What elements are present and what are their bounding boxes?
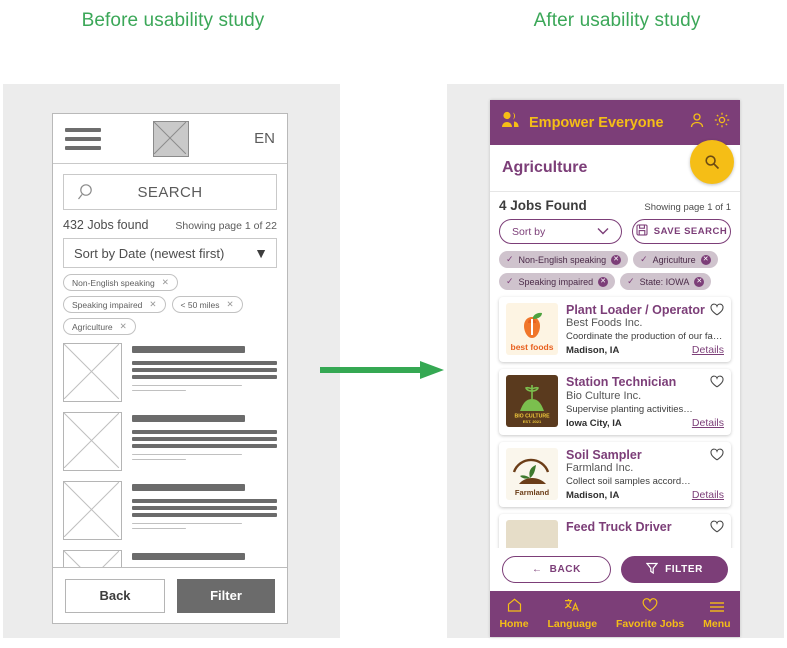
check-icon: ✓ — [506, 254, 514, 265]
svg-text:EST. 2021: EST. 2021 — [523, 419, 542, 424]
app-header: Empower Everyone — [490, 100, 740, 145]
placeholder-text-lines — [132, 481, 277, 540]
job-location: Iowa City, IA — [566, 418, 622, 429]
check-icon: ✓ — [640, 254, 648, 265]
nav-label: Language — [548, 618, 598, 630]
nav-item-home[interactable]: Home — [499, 598, 528, 630]
sort-label: Sort by — [512, 226, 545, 238]
check-icon: ✓ — [627, 276, 635, 287]
transition-arrow-icon — [320, 358, 445, 382]
results-count: 4 Jobs Found — [499, 198, 587, 213]
job-info: Soil Sampler Farmland Inc. Collect soil … — [566, 448, 724, 501]
nav-item-language[interactable]: Language — [548, 598, 598, 630]
job-company: Bio Culture Inc. — [566, 390, 724, 404]
filter-button[interactable]: Filter — [177, 579, 275, 613]
sort-label: Sort by Date (newest first) — [74, 246, 224, 261]
search-button[interactable] — [690, 140, 734, 184]
page-status: Showing page 1 of 1 — [644, 202, 731, 213]
check-icon: ✓ — [506, 276, 514, 287]
chevron-down-icon — [597, 226, 609, 238]
save-search-button[interactable]: SAVE SEARCH — [632, 219, 731, 244]
job-location: Madison, IA — [566, 345, 619, 356]
results-summary-row: 4 Jobs Found Showing page 1 of 1 — [499, 198, 731, 213]
heart-outline-icon[interactable] — [710, 448, 724, 466]
sort-dropdown[interactable]: Sort by — [499, 219, 622, 244]
heart-outline-icon — [642, 598, 658, 617]
filter-chip[interactable]: < 50 miles✕ — [172, 296, 243, 313]
nav-label: Favorite Jobs — [616, 618, 684, 630]
filter-chip-label: State: IOWA — [640, 277, 690, 287]
farmland-logo: Farmland — [506, 448, 558, 500]
home-icon — [507, 598, 522, 617]
app-bottom-actions: ← BACK FILTER — [490, 548, 740, 591]
placeholder-image-icon — [63, 481, 122, 540]
results-count: 432 Jobs found — [63, 218, 149, 232]
filter-chip-label: Speaking impaired — [519, 277, 594, 287]
results-controls: Sort by SAVE SEARCH — [499, 219, 731, 244]
job-company: Farmland Inc. — [566, 462, 724, 476]
filter-button[interactable]: FILTER — [621, 556, 728, 583]
app-phone-mockup: Empower Everyone Agriculture 4 Jobs Foun… — [490, 100, 740, 637]
close-icon[interactable]: ✕ — [120, 321, 127, 332]
app-brand-title: Empower Everyone — [529, 115, 680, 131]
job-title: Feed Truck Driver — [566, 520, 724, 534]
people-group-icon — [500, 111, 522, 134]
svg-text:Farmland: Farmland — [515, 488, 550, 497]
close-icon[interactable]: ✕ — [598, 277, 608, 287]
close-icon[interactable]: ✕ — [162, 277, 169, 288]
heart-outline-icon[interactable] — [710, 520, 724, 538]
app-results-area: 4 Jobs Found Showing page 1 of 1 Sort by… — [490, 192, 740, 578]
search-icon — [78, 183, 98, 208]
filter-chip[interactable]: Non-English speaking✕ — [63, 274, 178, 291]
heart-outline-icon[interactable] — [710, 375, 724, 393]
filter-chip[interactable]: ✓ State: IOWA ✕ — [620, 273, 711, 290]
placeholder-image-icon — [63, 343, 122, 402]
job-title: Soil Sampler — [566, 448, 724, 462]
wireframe-top-bar: EN — [53, 114, 287, 164]
placeholder-text-lines — [132, 343, 277, 402]
placeholder-text-lines — [132, 412, 277, 471]
wireframe-phone-mockup: EN SEARCH 432 Jobs found Showing page 1 … — [52, 113, 288, 624]
job-card[interactable]: BIO CULTURE EST. 2021 Station Technician… — [499, 369, 731, 434]
filter-chip[interactable]: Speaking impaired✕ — [63, 296, 166, 313]
job-info: Station Technician Bio Culture Inc. Supe… — [566, 375, 724, 428]
before-column-title: Before usability study — [3, 10, 343, 32]
filter-chip-label: Non-English speaking — [519, 255, 607, 265]
wireframe-results-row: 432 Jobs found Showing page 1 of 22 — [53, 210, 287, 236]
nav-item-favorite-jobs[interactable]: Favorite Jobs — [616, 598, 684, 630]
search-input[interactable]: Agriculture — [502, 159, 705, 177]
hamburger-icon[interactable] — [65, 123, 101, 155]
placeholder-image-icon — [63, 412, 122, 471]
sort-dropdown[interactable]: Sort by Date (newest first) ▼ — [63, 238, 277, 268]
job-description: Coordinate the production of our fa… — [566, 331, 724, 343]
job-title: Station Technician — [566, 375, 724, 389]
close-icon[interactable]: ✕ — [701, 255, 711, 265]
wireframe-filter-chips: Non-English speaking✕ Speaking impaired✕… — [53, 268, 287, 335]
bottom-nav-bar: Home Language Favorite Jobs Menu — [490, 591, 740, 637]
nav-label: Menu — [703, 618, 730, 630]
details-link[interactable]: Details — [692, 489, 724, 501]
job-description: Supervise planting activities… — [566, 404, 724, 416]
best-foods-logo: best foods — [506, 303, 558, 355]
bio-culture-logo: BIO CULTURE EST. 2021 — [506, 375, 558, 427]
nav-label: Home — [499, 618, 528, 630]
back-button[interactable]: Back — [65, 579, 165, 613]
filter-label: FILTER — [665, 564, 703, 575]
filter-chip[interactable]: ✓ Speaking impaired ✕ — [499, 273, 615, 290]
job-company: Best Foods Inc. — [566, 317, 724, 331]
person-icon[interactable] — [690, 113, 704, 133]
close-icon[interactable]: ✕ — [149, 299, 156, 310]
after-column-title: After usability study — [447, 10, 787, 32]
filter-chip-label: Non-English speaking — [72, 278, 155, 288]
active-filter-chips: ✓ Non-English speaking ✕ ✓ Agriculture ✕… — [499, 251, 731, 290]
list-item[interactable] — [63, 412, 277, 471]
close-icon[interactable]: ✕ — [227, 299, 234, 310]
job-title: Plant Loader / Operator — [566, 303, 724, 317]
funnel-icon — [646, 562, 658, 577]
page-status: Showing page 1 of 22 — [175, 220, 277, 232]
filter-chip-label: < 50 miles — [181, 300, 220, 310]
translate-icon — [564, 598, 580, 617]
filter-chip-label: Agriculture — [72, 322, 113, 332]
gear-icon[interactable] — [714, 112, 730, 133]
job-card[interactable]: Farmland Soil Sampler Farmland Inc. Coll… — [499, 442, 731, 507]
save-search-label: SAVE SEARCH — [654, 226, 727, 237]
svg-text:best foods: best foods — [511, 342, 554, 352]
filter-chip[interactable]: Agriculture✕ — [63, 318, 136, 335]
arrow-left-icon: ← — [532, 564, 543, 575]
chevron-down-icon: ▼ — [254, 245, 268, 261]
wireframe-footer-actions: Back Filter — [53, 567, 287, 623]
search-input[interactable]: SEARCH — [63, 174, 277, 210]
job-card[interactable]: best foods Plant Loader / Operator Best … — [499, 297, 731, 362]
job-description: Collect soil samples accord… — [566, 476, 724, 488]
save-disk-icon — [636, 224, 648, 239]
back-button[interactable]: ← BACK — [502, 556, 611, 583]
details-link[interactable]: Details — [692, 417, 724, 429]
hamburger-icon — [709, 599, 725, 617]
nav-item-menu[interactable]: Menu — [703, 599, 730, 630]
filter-chip-label: Speaking impaired — [72, 300, 142, 310]
list-item[interactable] — [63, 481, 277, 540]
filter-chip-label: Agriculture — [653, 255, 696, 265]
language-label[interactable]: EN — [254, 130, 275, 147]
search-icon — [704, 154, 720, 170]
app-search-bar[interactable]: Agriculture — [490, 145, 740, 192]
job-location: Madison, IA — [566, 490, 619, 501]
back-label: BACK — [550, 564, 581, 575]
close-icon[interactable]: ✕ — [611, 255, 621, 265]
details-link[interactable]: Details — [692, 344, 724, 356]
filter-chip[interactable]: ✓ Agriculture ✕ — [633, 251, 718, 268]
close-icon[interactable]: ✕ — [694, 277, 704, 287]
filter-chip[interactable]: ✓ Non-English speaking ✕ — [499, 251, 628, 268]
heart-outline-icon[interactable] — [710, 303, 724, 321]
placeholder-image-icon — [153, 121, 189, 157]
job-info: Plant Loader / Operator Best Foods Inc. … — [566, 303, 724, 356]
job-card-list: best foods Plant Loader / Operator Best … — [499, 297, 731, 578]
list-item[interactable] — [63, 343, 277, 402]
